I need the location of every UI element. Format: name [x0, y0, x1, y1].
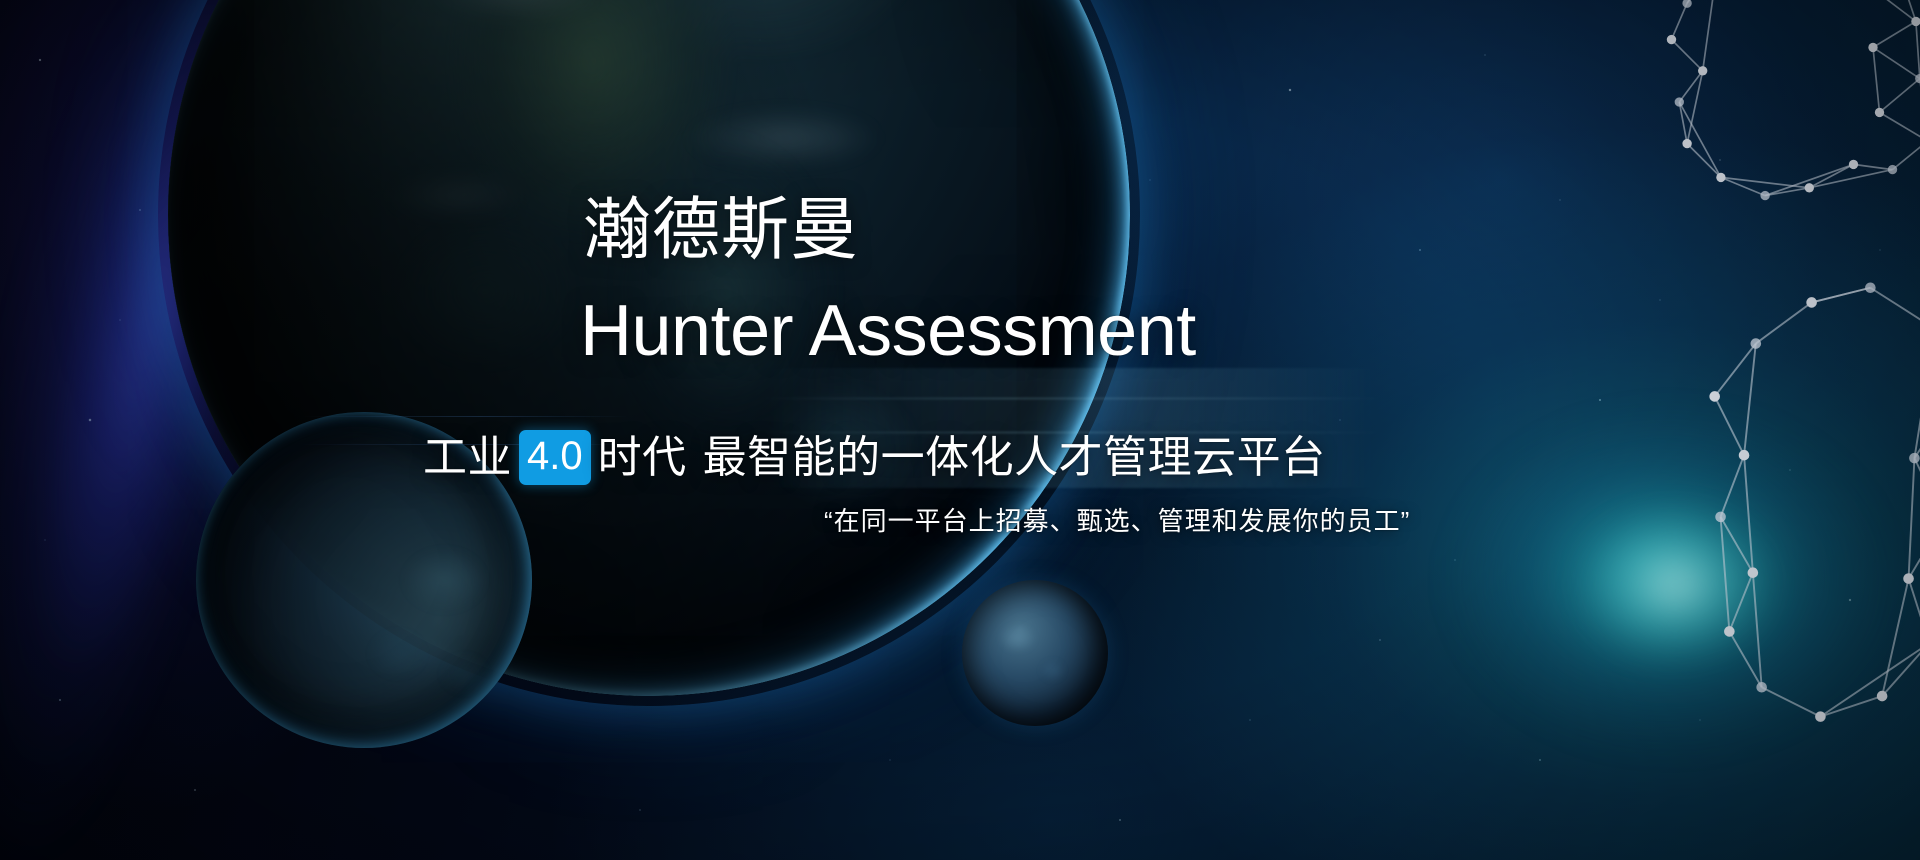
- tagline-quote: “在同一平台上招募、甄选、管理和发展你的员工”: [824, 508, 1410, 534]
- brand-title-chinese: 瀚德斯曼: [583, 196, 859, 264]
- hero-copy: 瀚德斯曼 Hunter Assessment 工业 4.0 时代 最智能的一体化…: [0, 0, 1920, 860]
- brand-title-english: Hunter Assessment: [580, 295, 1196, 367]
- tagline-prefix: 工业: [423, 436, 512, 480]
- tagline-suffix: 最智能的一体化人才管理云平台: [703, 436, 1326, 480]
- tagline: 工业 4.0 时代 最智能的一体化人才管理云平台: [423, 430, 1326, 485]
- industry-version-badge: 4.0: [519, 430, 591, 485]
- hero-banner: 瀚德斯曼 Hunter Assessment 工业 4.0 时代 最智能的一体化…: [0, 0, 1920, 860]
- tagline-middle: 时代: [598, 436, 687, 480]
